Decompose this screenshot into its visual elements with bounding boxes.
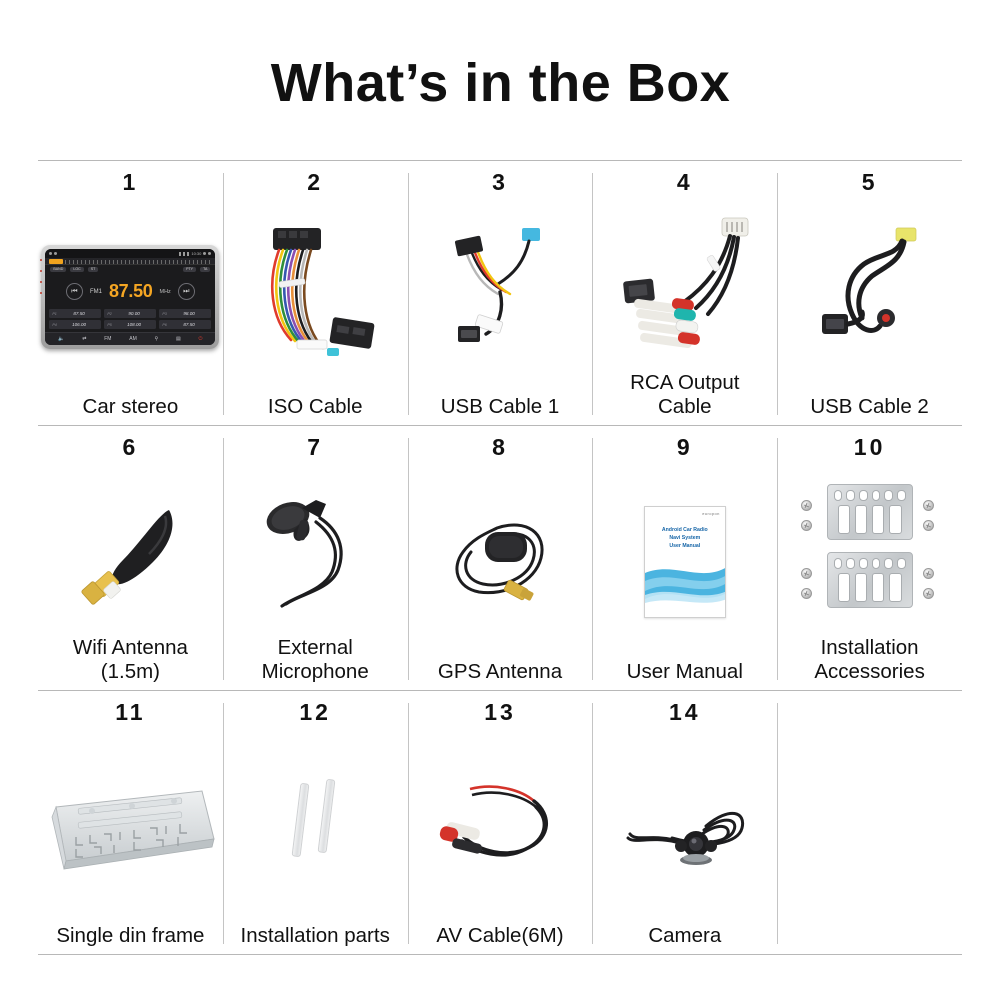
stereo-frequency-unit: MHz bbox=[160, 289, 171, 295]
tab-fm[interactable]: FM bbox=[104, 336, 111, 342]
stereo-clock: 10:30 bbox=[191, 251, 201, 256]
item-cell-11: 11 bbox=[38, 691, 223, 954]
items-row-1: 1 10:30 bbox=[38, 160, 962, 425]
usb-cable-2-icon bbox=[800, 222, 940, 372]
stereo-chip-loc[interactable]: LOC bbox=[70, 267, 83, 273]
removal-key bbox=[292, 782, 310, 857]
search-icon[interactable]: ⚲ bbox=[155, 336, 159, 342]
preset-index: P6 bbox=[162, 323, 166, 327]
screw bbox=[801, 520, 812, 531]
stereo-side-buttons bbox=[40, 259, 42, 294]
car-stereo-icon: 10:30 BAND LOC ST PTY TA bbox=[41, 245, 219, 349]
preset-index: P1 bbox=[52, 312, 56, 316]
item-image-iso-cable bbox=[223, 199, 408, 395]
item-cell-12: 12 Installation parts bbox=[223, 691, 408, 954]
item-image-av-cable bbox=[408, 729, 593, 924]
stereo-chip-band[interactable]: BAND bbox=[50, 267, 66, 273]
items-grid: 1 10:30 bbox=[38, 160, 962, 955]
whats-in-the-box-infographic: What’s in the Box 1 10:30 bbox=[0, 0, 1001, 1001]
stereo-chip-ta[interactable]: TA bbox=[200, 267, 210, 273]
item-number: 12 bbox=[299, 697, 331, 727]
screw bbox=[801, 568, 812, 579]
item-image-usb-cable-1 bbox=[408, 199, 593, 395]
preset-value: 108.00 bbox=[127, 322, 141, 327]
stereo-chip-st[interactable]: ST bbox=[88, 267, 99, 273]
item-cell-9: 9 europon Android Car Radio Navi System … bbox=[592, 426, 777, 690]
preset-index: P5 bbox=[107, 323, 111, 327]
single-din-frame-icon bbox=[42, 777, 218, 877]
preset-value: 87.50 bbox=[183, 322, 195, 327]
external-microphone-icon bbox=[250, 478, 380, 623]
preset-value: 98.00 bbox=[183, 311, 195, 316]
rca-output-cable-icon bbox=[610, 210, 760, 360]
screw bbox=[801, 588, 812, 599]
item-label bbox=[777, 948, 962, 954]
install-keys-group bbox=[270, 777, 360, 877]
mounting-bracket bbox=[827, 484, 913, 540]
preset-value: 106.00 bbox=[72, 322, 86, 327]
item-cell-5: 5 USB Cable 2 bbox=[777, 161, 962, 425]
item-image-single-din-frame bbox=[38, 729, 223, 924]
items-row-2: 6 Wifi Antenna (1.5m) 7 bbox=[38, 425, 962, 690]
item-label: Installation parts bbox=[223, 924, 408, 954]
screw bbox=[923, 588, 934, 599]
accessories-group bbox=[795, 480, 945, 620]
item-image-installation-parts bbox=[223, 729, 408, 924]
item-cell-1: 1 10:30 bbox=[38, 161, 223, 425]
item-image-gps-antenna bbox=[408, 464, 593, 660]
item-number: 8 bbox=[492, 432, 508, 462]
stereo-band-label: FM1 bbox=[90, 289, 102, 295]
item-image-camera bbox=[592, 729, 777, 924]
mounting-bracket bbox=[827, 552, 913, 608]
item-cell-3: 3 bbox=[408, 161, 593, 425]
item-image-car-stereo: 10:30 BAND LOC ST PTY TA bbox=[38, 199, 223, 395]
item-image-external-microphone bbox=[223, 464, 408, 636]
item-cell-14: 14 bbox=[592, 691, 777, 954]
volume-icon[interactable]: 🔈 bbox=[58, 336, 64, 342]
stereo-presets: P1 87.50 P2 90.00 P3 98. bbox=[45, 309, 215, 332]
item-label: GPS Antenna bbox=[408, 660, 593, 690]
item-cell-7: 7 External bbox=[223, 426, 408, 690]
item-number: 2 bbox=[307, 167, 323, 197]
power-icon[interactable]: ⏻ bbox=[198, 336, 202, 342]
list-icon[interactable]: ▤ bbox=[176, 336, 181, 342]
shuffle-icon[interactable]: ⇄ bbox=[82, 336, 86, 342]
item-label: USB Cable 2 bbox=[777, 395, 962, 425]
item-cell-8: 8 GPS Antenna bbox=[408, 426, 593, 690]
preset-index: P2 bbox=[107, 312, 111, 316]
stereo-tuning-bar bbox=[45, 258, 215, 265]
item-number: 6 bbox=[123, 432, 139, 462]
item-number: 9 bbox=[677, 432, 693, 462]
stereo-chip-row: BAND LOC ST PTY TA bbox=[45, 265, 215, 274]
usb-cable-1-icon bbox=[430, 222, 570, 372]
item-label: External Microphone bbox=[223, 636, 408, 690]
item-label: AV Cable(6M) bbox=[408, 924, 593, 954]
item-label: Single din frame bbox=[38, 924, 223, 954]
screw bbox=[923, 568, 934, 579]
item-label: RCA Output Cable bbox=[592, 371, 777, 425]
stereo-preset[interactable]: P6 87.50 bbox=[159, 320, 211, 329]
item-image-rca-output-cable bbox=[592, 199, 777, 371]
item-number: 7 bbox=[307, 432, 323, 462]
item-cell-empty bbox=[777, 691, 962, 954]
item-image-installation-accessories bbox=[777, 464, 962, 636]
preset-index: P3 bbox=[162, 312, 166, 316]
item-number: 10 bbox=[854, 432, 886, 462]
manual-title: Android Car Radio Navi System User Manua… bbox=[645, 527, 725, 550]
page-title: What’s in the Box bbox=[0, 54, 1001, 113]
item-number: 13 bbox=[484, 697, 516, 727]
tab-am[interactable]: AM bbox=[129, 336, 137, 342]
item-label: Camera bbox=[592, 924, 777, 954]
stereo-preset[interactable]: P4 106.00 bbox=[49, 320, 101, 329]
item-number: 1 bbox=[123, 167, 139, 197]
screw bbox=[923, 500, 934, 511]
stereo-prev-icon[interactable]: ⏮ bbox=[66, 283, 83, 300]
item-number: 4 bbox=[677, 167, 693, 197]
removal-key bbox=[318, 778, 336, 853]
item-label: USB Cable 1 bbox=[408, 395, 593, 425]
item-cell-4: 4 bbox=[592, 161, 777, 425]
item-number: 11 bbox=[115, 697, 145, 727]
gps-antenna-icon bbox=[435, 492, 565, 632]
items-row-3: 11 bbox=[38, 690, 962, 955]
item-label: Installation Accessories bbox=[777, 636, 962, 690]
item-number: 5 bbox=[862, 167, 878, 197]
item-image-none bbox=[777, 729, 962, 948]
stereo-chip-pty[interactable]: PTY bbox=[183, 267, 196, 273]
preset-index: P4 bbox=[52, 323, 56, 327]
screw bbox=[923, 520, 934, 531]
user-manual-icon: europon Android Car Radio Navi System Us… bbox=[644, 506, 726, 618]
item-label: User Manual bbox=[592, 660, 777, 690]
item-cell-2: 2 bbox=[223, 161, 408, 425]
stereo-preset[interactable]: P1 87.50 bbox=[49, 309, 101, 318]
item-number: 3 bbox=[492, 167, 508, 197]
stereo-preset[interactable]: P2 90.00 bbox=[104, 309, 156, 318]
wifi-antenna-icon bbox=[65, 480, 195, 620]
stereo-preset[interactable]: P5 108.00 bbox=[104, 320, 156, 329]
iso-cable-icon bbox=[245, 222, 385, 372]
item-cell-13: 13 AV Cable(6M) bbox=[408, 691, 593, 954]
manual-wave-graphic bbox=[645, 559, 726, 605]
item-label: Wifi Antenna (1.5m) bbox=[38, 636, 223, 690]
preset-value: 90.00 bbox=[128, 311, 140, 316]
camera-icon bbox=[610, 772, 760, 882]
screw bbox=[801, 500, 812, 511]
item-cell-6: 6 Wifi Antenna (1.5m) bbox=[38, 426, 223, 690]
item-image-usb-cable-2 bbox=[777, 199, 962, 395]
preset-value: 87.50 bbox=[73, 311, 85, 316]
item-image-user-manual: europon Android Car Radio Navi System Us… bbox=[592, 464, 777, 660]
stereo-frequency: 87.50 bbox=[109, 281, 153, 302]
stereo-preset[interactable]: P3 98.00 bbox=[159, 309, 211, 318]
item-label: Car stereo bbox=[38, 395, 223, 425]
item-cell-10: 10 bbox=[777, 426, 962, 690]
manual-brand: europon bbox=[702, 511, 719, 516]
av-cable-icon bbox=[430, 767, 570, 887]
stereo-next-icon[interactable]: ⏭ bbox=[178, 283, 195, 300]
item-image-wifi-antenna bbox=[38, 464, 223, 636]
item-label: ISO Cable bbox=[223, 395, 408, 425]
item-number: 14 bbox=[669, 697, 701, 727]
